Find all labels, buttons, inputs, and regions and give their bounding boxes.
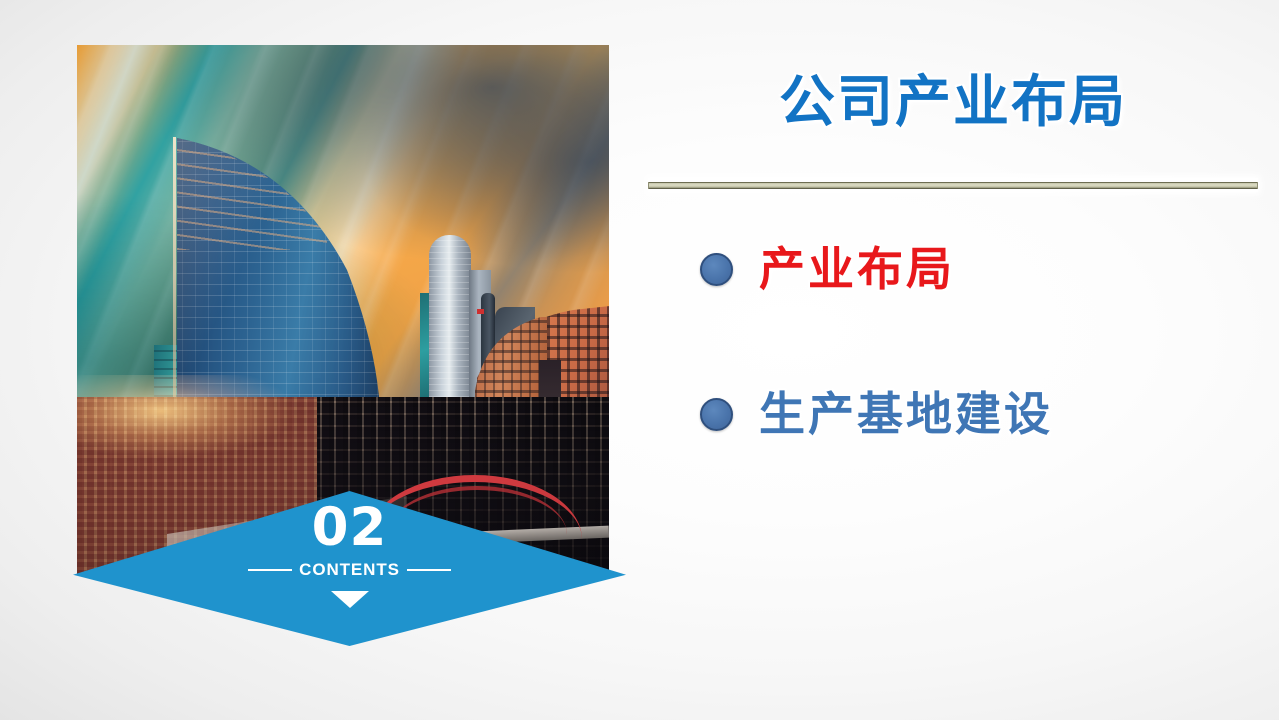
- bullet-label-2: 生产基地建设: [759, 390, 1053, 438]
- bullet-label-1: 产业布局: [759, 245, 955, 293]
- bullet-dot-icon: [700, 398, 733, 431]
- title-divider: [648, 178, 1258, 192]
- title-divider-bar: [648, 182, 1258, 189]
- presentation-slide: 02 CONTENTS 公司产业布局 产业布局 生产基地建设: [0, 0, 1279, 720]
- bullet-item-1[interactable]: 产业布局: [700, 245, 955, 293]
- bullet-dot-icon: [700, 253, 733, 286]
- bullet-item-2[interactable]: 生产基地建设: [700, 390, 1053, 438]
- page-title: 公司产业布局: [648, 72, 1258, 134]
